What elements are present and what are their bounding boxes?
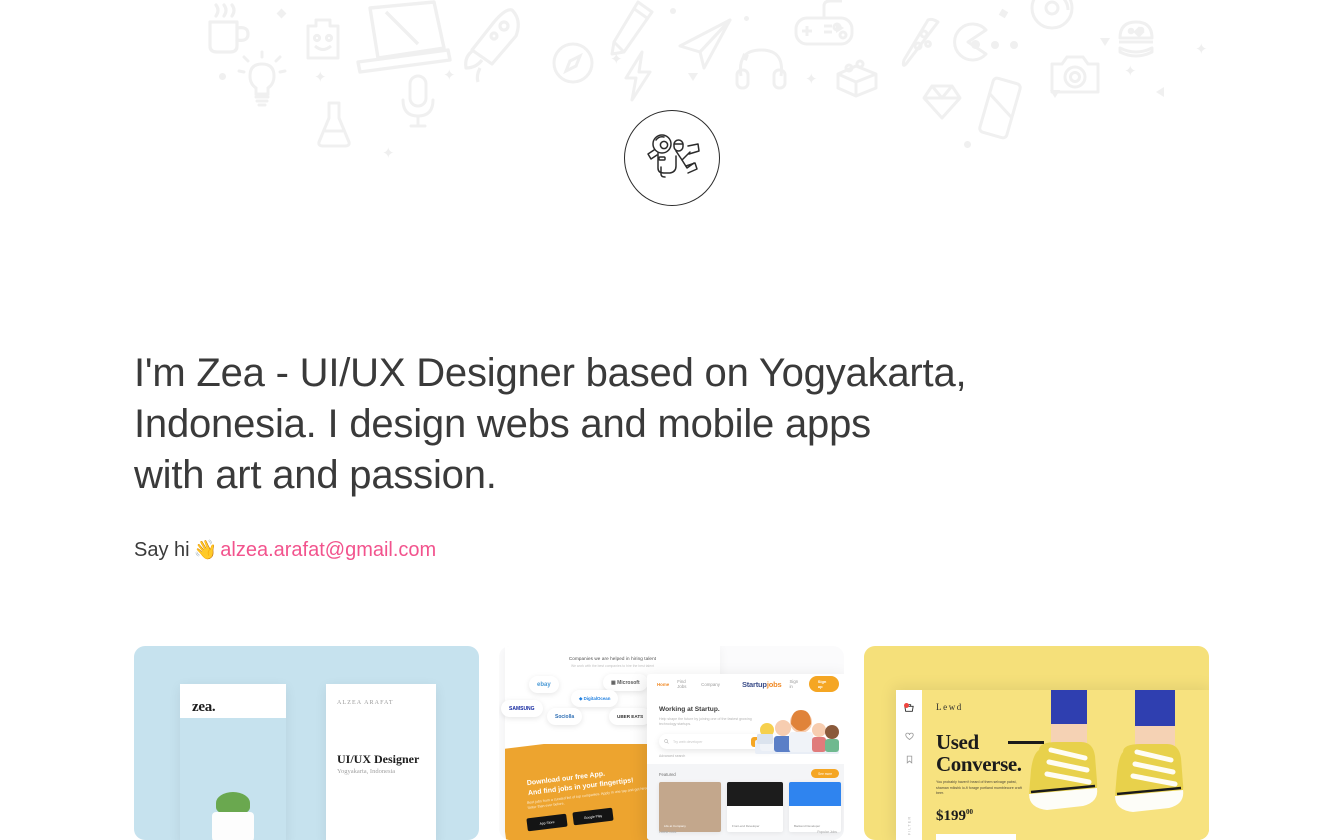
- company-logo-ubereats: UBER EATS: [609, 708, 651, 725]
- team-illustration: [753, 704, 841, 756]
- featured-tile[interactable]: Life at Company: [659, 782, 721, 832]
- company-logo-microsoft: ▦ Microsoft: [603, 674, 648, 691]
- square-accent: [1133, 26, 1144, 37]
- triangle-accent: [836, 23, 844, 33]
- lightning-bolt-icon: [620, 50, 656, 102]
- dot-accent: [670, 8, 676, 14]
- brand-card-mockup: zea.: [180, 684, 286, 840]
- logos-heading: Companies we are helped in hiring talent: [505, 656, 720, 661]
- project-card-startupjobs[interactable]: Companies we are helped in hiring talent…: [499, 646, 844, 840]
- dot-accent: [744, 16, 749, 21]
- company-logo-samsung: SAMSUNG: [501, 700, 543, 717]
- lego-head-icon: [300, 14, 346, 64]
- business-card-mockup: ALZEA ARAFAT UI/UX Designer Yogyakarta, …: [326, 684, 436, 840]
- triangle-accent: [1156, 87, 1164, 97]
- lego-brick-icon: [832, 58, 880, 100]
- page-title: I'm Zea - UI/UX Designer based on Yogyak…: [134, 348, 1144, 501]
- footer-popular-jobs[interactable]: Popular Jobs: [817, 830, 837, 834]
- microphone-icon: [395, 72, 441, 128]
- owner-title: UI/UX Designer: [337, 752, 419, 767]
- shop-description: You probably haven't heard of them selva…: [936, 780, 1022, 797]
- coffee-mug-icon: [196, 4, 254, 62]
- square-accent: [277, 9, 287, 19]
- featured-tile[interactable]: Front-end Developer: [727, 782, 783, 832]
- plant-leaves: [216, 792, 250, 814]
- flask-icon: [312, 98, 356, 150]
- astronaut-illustration: [642, 130, 702, 186]
- site-hero-title: Working at Startup.: [659, 706, 720, 713]
- plant-pot: [212, 812, 254, 840]
- cart-badge: [904, 703, 909, 708]
- star-accent: ✦: [314, 70, 327, 85]
- converse-shoes-photo: [995, 690, 1209, 840]
- pencil-icon: [608, 0, 656, 62]
- company-logo-sociolla: Sociolla: [547, 708, 582, 725]
- sign-in-link[interactable]: Sign in: [789, 679, 800, 689]
- zea-wordmark: zea.: [192, 699, 215, 716]
- featured-tile-caption: Front-end Developer: [732, 824, 760, 828]
- project-card-lewd[interactable]: FILTER: [864, 646, 1209, 840]
- nav-home[interactable]: Home: [657, 682, 669, 687]
- site-hero-body: Help shape the future by joining one of …: [659, 717, 755, 727]
- cart-icon[interactable]: [904, 700, 914, 718]
- dot-accent: [971, 40, 980, 49]
- email-link[interactable]: alzea.arafat@gmail.com: [220, 539, 436, 561]
- price-amount: $199: [936, 808, 966, 824]
- star-accent: ✦: [610, 52, 623, 67]
- filter-label: FILTER: [907, 816, 912, 835]
- star-accent: ✦: [443, 68, 456, 83]
- owner-location: Yogyakarta, Indonesia: [337, 768, 395, 775]
- star-accent: ✦: [805, 72, 818, 87]
- pacman-icon: [946, 20, 990, 64]
- add-to-cart-button[interactable]: ADD TO CART: [936, 834, 1016, 840]
- title-dash: [1008, 741, 1044, 744]
- shop-page-mockup: FILTER: [896, 690, 1209, 840]
- site-navbar: Home Find Jobs Company Startupjobs Sign …: [647, 674, 844, 694]
- price-cents: 00: [966, 808, 973, 816]
- featured-label: Featured: [659, 772, 676, 777]
- plant-photo: [180, 718, 286, 840]
- astronaut-logo[interactable]: [624, 110, 720, 206]
- rocket-icon: [460, 6, 528, 84]
- search-icon: [664, 739, 669, 744]
- dot-accent: [991, 41, 999, 49]
- shop-title-line2: Converse.: [936, 752, 1022, 777]
- wave-emoji-icon: 👋: [194, 540, 218, 561]
- gamepad-icon: [794, 0, 854, 54]
- shop-brand: Lewd: [936, 702, 963, 712]
- star-accent: ✦: [1195, 42, 1208, 57]
- star-accent: ✦: [1124, 64, 1137, 79]
- nav-company[interactable]: Company: [701, 682, 720, 687]
- square-accent: [741, 53, 749, 61]
- dot-accent: [964, 141, 971, 148]
- triangle-accent: [1100, 38, 1110, 46]
- heart-icon[interactable]: [905, 732, 914, 741]
- triangle-accent: [688, 73, 698, 81]
- startupjobs-logo: Startupjobs: [742, 680, 781, 689]
- nav-find-jobs[interactable]: Find Jobs: [677, 679, 693, 689]
- paper-plane-icon: [676, 16, 734, 72]
- featured-see-more-button[interactable]: See more: [811, 769, 839, 778]
- advanced-search-link[interactable]: Advanced search: [659, 754, 685, 758]
- pizza-slice-icon: [898, 18, 946, 70]
- portfolio-page: ✦ ✦ ✦ ✦ ✦ ✦ ✦ I'm Zea - UI/UX Designer b…: [0, 0, 1344, 840]
- featured-section: Featured See more Life at Company Front-…: [647, 764, 844, 840]
- headphones-icon: [735, 42, 787, 90]
- dot-accent: [1010, 41, 1018, 49]
- logos-subheading: We work with the best companies to hire …: [505, 664, 720, 668]
- lightbulb-icon: [236, 52, 288, 108]
- featured-tile[interactable]: Backend Developer: [789, 782, 841, 832]
- footer-latest-jobs[interactable]: Latest Jobs: [659, 830, 676, 834]
- product-price: $19900: [936, 808, 973, 825]
- triangle-accent: [1050, 90, 1060, 98]
- search-placeholder: Try web developer: [673, 740, 702, 744]
- featured-tile-caption: Life at Company: [664, 824, 686, 828]
- company-logo-digitalocean: ◆ DigitalOcean: [571, 690, 618, 707]
- project-card-branding[interactable]: zea. ALZEA ARAFAT UI/UX Designer Yogyaka…: [134, 646, 479, 840]
- smartphone-icon: [978, 78, 1022, 140]
- company-logo-ebay: ebay: [529, 676, 559, 693]
- camera-icon: [1048, 52, 1102, 98]
- featured-tile-caption: Backend Developer: [794, 824, 820, 828]
- dot-accent: [219, 73, 226, 80]
- cd-disc-icon: [1028, 0, 1076, 32]
- website-mockup: Home Find Jobs Company Startupjobs Sign …: [647, 674, 844, 840]
- contact-line: Say hi👋alzea.arafat@gmail.com: [134, 537, 1144, 564]
- shop-sidebar: FILTER: [896, 690, 922, 840]
- laptop-icon: [348, 0, 458, 80]
- sign-up-button[interactable]: Sign up: [809, 676, 839, 692]
- owner-name: ALZEA ARAFAT: [337, 700, 394, 706]
- burger-icon: [1114, 18, 1158, 62]
- project-cards: zea. ALZEA ARAFAT UI/UX Designer Yogyaka…: [134, 646, 1210, 840]
- compass-icon: [550, 40, 596, 86]
- diamond-icon: [920, 80, 964, 124]
- square-accent: [999, 9, 1009, 19]
- hero-section: I'm Zea - UI/UX Designer based on Yogyak…: [134, 348, 1144, 564]
- bookmark-icon[interactable]: [905, 755, 914, 764]
- say-hi-label: Say hi: [134, 539, 190, 561]
- star-accent: ✦: [382, 146, 395, 161]
